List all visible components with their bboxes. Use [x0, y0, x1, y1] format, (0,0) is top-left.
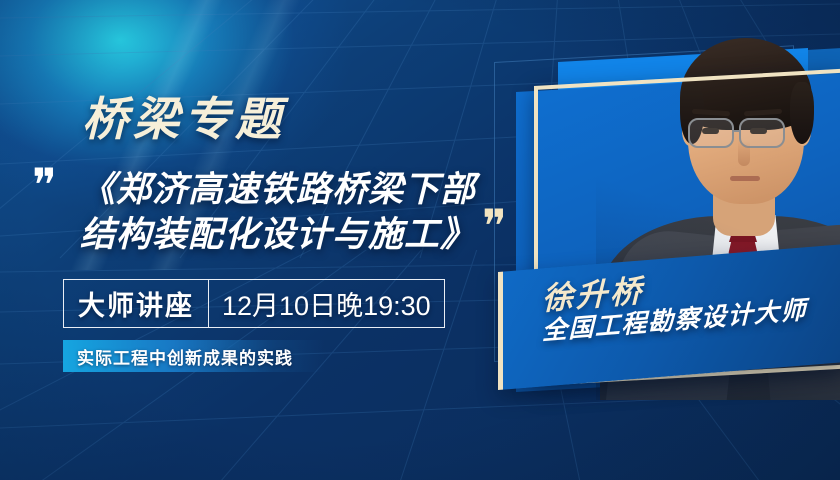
- book-title-line-2: 结构装配化设计与施工》: [80, 213, 510, 258]
- lecture-type-label: 大师讲座: [64, 280, 209, 327]
- lecture-info-bar: 大师讲座 12月10日晚19:30: [63, 279, 445, 328]
- lecture-datetime: 12月10日晚19:30: [209, 280, 444, 327]
- quote-open-icon: ❞: [32, 162, 54, 208]
- book-title: 《郑济高速铁路桥梁下部 结构装配化设计与施工》: [80, 168, 510, 258]
- webinar-poster: 徐升桥 全国工程勘察设计大师 桥梁专题 ❞ ❞ 《郑济高速铁路桥梁下部 结构装配…: [0, 0, 840, 480]
- book-title-line-1: 《郑济高速铁路桥梁下部: [80, 168, 510, 213]
- page-title: 桥梁专题: [82, 96, 286, 142]
- tagline-banner: 实际工程中创新成果的实践: [63, 340, 325, 372]
